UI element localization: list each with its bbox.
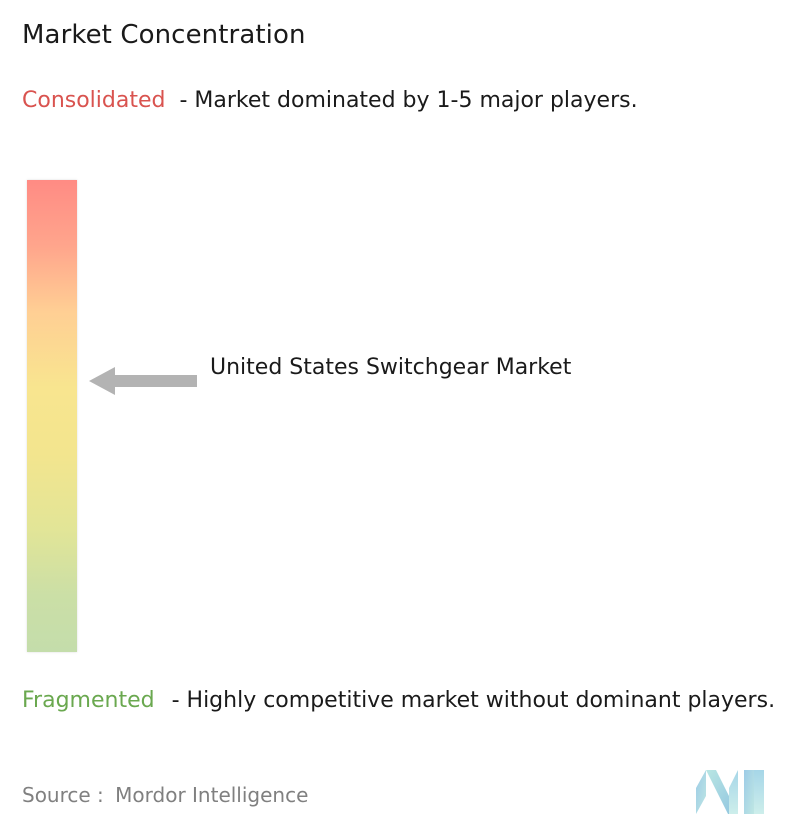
- mordor-intelligence-logo-svg: [696, 770, 768, 814]
- fragmented-caption: Fragmented - Highly competitive market w…: [22, 685, 794, 717]
- consolidated-term: Consolidated: [22, 88, 165, 113]
- source-label: Source :: [22, 783, 104, 807]
- fragmented-description: - Highly competitive market without domi…: [172, 688, 775, 713]
- left-arrow-svg: [89, 365, 197, 397]
- page-title: Market Concentration: [22, 20, 306, 51]
- market-callout-label: United States Switchgear Market: [210, 350, 630, 385]
- logo-shape-5: [754, 770, 764, 814]
- source-attribution: Source : Mordor Intelligence: [22, 783, 308, 807]
- market-concentration-gradient-bar: [27, 180, 77, 652]
- logo-shape-4: [744, 770, 754, 814]
- consolidated-description: - Market dominated by 1-5 major players.: [179, 88, 637, 113]
- left-arrow-icon: [89, 365, 197, 397]
- consolidated-caption: Consolidated - Market dominated by 1-5 m…: [22, 85, 782, 117]
- source-name: Mordor Intelligence: [115, 783, 308, 807]
- mordor-intelligence-logo: [696, 770, 768, 814]
- logo-shape-1: [696, 770, 706, 814]
- fragmented-term: Fragmented: [22, 688, 155, 713]
- left-arrow-shape: [89, 367, 197, 395]
- logo-shape-3: [729, 770, 738, 814]
